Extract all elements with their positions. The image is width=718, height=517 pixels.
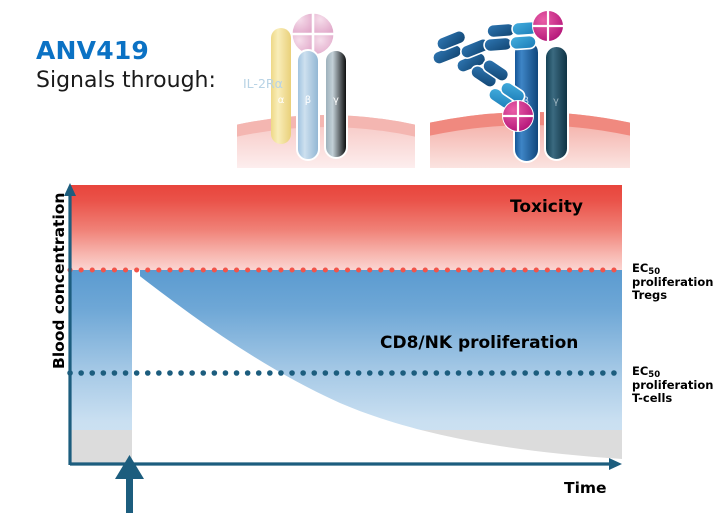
x-axis	[70, 458, 622, 470]
annotation-ec50-tregs: EC50 proliferation Tregs	[632, 262, 713, 303]
x-axis-label: Time	[564, 479, 607, 497]
zone-label-toxicity: Toxicity	[510, 197, 583, 217]
svg-text:α: α	[278, 95, 285, 106]
svg-text:γ: γ	[333, 95, 339, 106]
il2-receptor-alpha-label: IL-2Rα	[243, 76, 283, 91]
ec50-tcells-line2: proliferation	[632, 378, 713, 392]
il2-payload-lower	[502, 100, 534, 132]
il2-payload-upper	[532, 10, 564, 42]
receptor-chain-beta-left: β	[297, 50, 319, 160]
zone-label-cd8nk: CD8/NK proliferation	[380, 333, 578, 353]
svg-text:β: β	[305, 95, 311, 106]
chart-overlays	[68, 183, 622, 465]
receptor-chain-gamma-left: γ	[325, 50, 347, 158]
page-subtitle: Signals through:	[36, 68, 216, 93]
slide-canvas: ANV419 Signals through:	[0, 0, 718, 517]
page-title: ANV419	[36, 36, 149, 65]
receptor-panel-dimeric-antibody: β γ	[430, 4, 630, 168]
ec50-tregs-line2: proliferation	[632, 275, 713, 289]
ec50-tregs-line1: EC50	[632, 261, 660, 275]
y-axis-label: Blood concentration	[50, 149, 68, 369]
blood-concentration-chart: Toxicity CD8/NK proliferation Blood conc…	[68, 183, 622, 465]
receptor-panel-trimeric: α β γ IL-2Rα	[237, 8, 415, 168]
annotation-ec50-tcells: EC50 proliferation T-cells	[632, 365, 713, 406]
ec50-tcells-line3: T-cells	[632, 391, 672, 405]
il2-cytokine-left	[291, 12, 335, 56]
ec50-tcells-line1: EC50	[632, 364, 660, 378]
receptor-chain-gamma-right: γ	[545, 46, 568, 160]
svg-text:γ: γ	[553, 96, 559, 107]
ec50-tregs-line3: Tregs	[632, 288, 667, 302]
